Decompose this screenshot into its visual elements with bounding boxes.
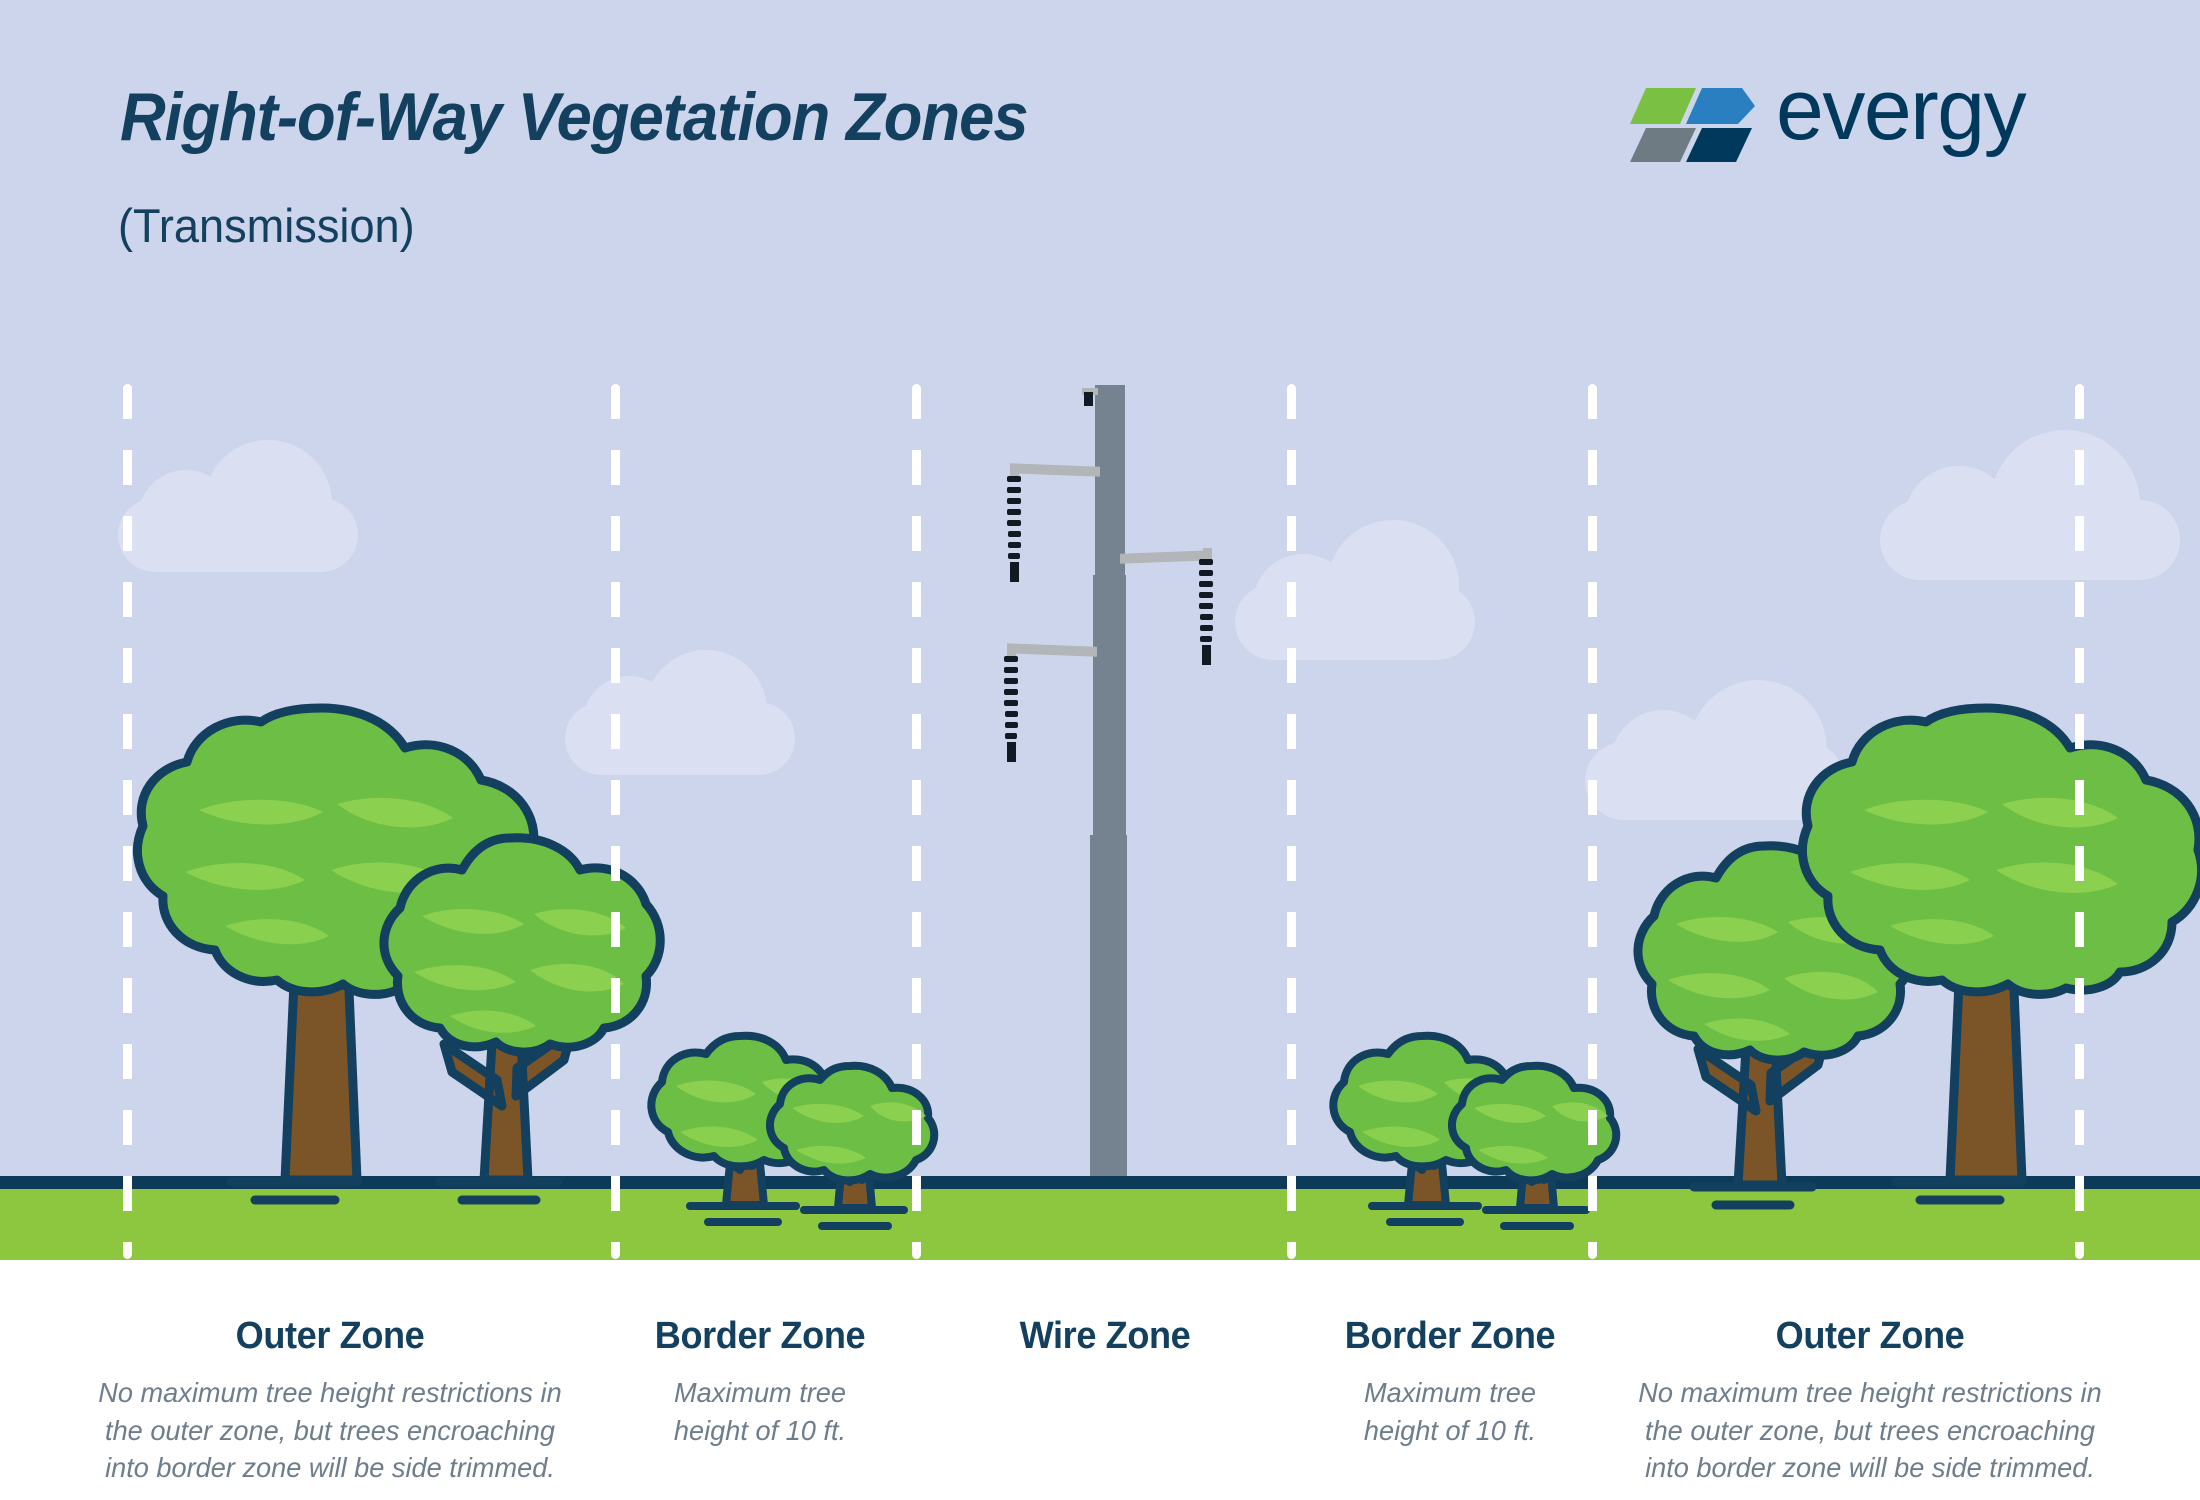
cloud-left [118,440,358,572]
zone-legend-border-left-title: Border Zone [608,1315,912,1358]
zone-legend-outer-left: Outer Zone No maximum tree height restri… [80,1315,580,1487]
zone-divider-1 [123,384,132,1259]
zone-legend-border-right-title: Border Zone [1298,1315,1602,1358]
zone-legend-outer-left-title: Outer Zone [93,1315,568,1358]
crossarm-middle-right-tip [1203,548,1212,559]
evergy-chevron-logo-icon [1630,84,1755,162]
zone-legend-outer-right: Outer Zone No maximum tree height restri… [1620,1315,2120,1487]
zone-divider-3 [912,384,921,1259]
zone-divider-5 [1588,384,1597,1259]
pole-shaft-upper [1095,385,1125,575]
shrub-border-right-2 [1438,1060,1633,1218]
cloud-far-right [1880,430,2180,580]
zone-legend-wire-title: Wire Zone [967,1315,1243,1358]
zone-legend-outer-right-title: Outer Zone [1633,1315,2108,1358]
brand-wordmark: evergy [1776,61,2025,160]
insulator-middle-right [1199,559,1213,665]
pole-shaft-mid [1093,575,1126,835]
shrub-border-left-2 [756,1060,951,1218]
mature-tree-outer-left-2 [358,830,668,1190]
footer-legend: Outer Zone No maximum tree height restri… [0,1260,2200,1500]
zone-divider-4 [1287,384,1296,1259]
zone-legend-outer-left-desc: No maximum tree height restrictions in t… [88,1374,573,1487]
zone-divider-2 [611,384,620,1259]
crossarm-upper-left-tip [1010,465,1019,476]
cloud-center-right [1235,520,1475,660]
zone-legend-border-right-desc: Maximum tree height of 10 ft. [1353,1374,1547,1449]
zone-legend-border-left-desc: Maximum tree height of 10 ft. [663,1374,857,1449]
pole-shaft-lower [1090,835,1127,1190]
zone-legend-wire: Wire Zone [960,1315,1250,1374]
insulator-upper-left [1007,476,1021,582]
crossarm-lower-left-tip [1007,645,1016,656]
header: Right-of-Way Vegetation Zones (Transmiss… [0,0,2200,300]
cloud-left-lower [565,650,795,775]
brand-logo[interactable]: evergy [1630,70,2100,170]
infographic-canvas: Outer Zone No maximum tree height restri… [0,0,2200,1500]
mature-tree-outer-right-2 [1790,700,2200,1190]
page-subtitle: (Transmission) [118,198,415,253]
insulator-lower-left [1004,656,1018,762]
zone-legend-outer-right-desc: No maximum tree height restrictions in t… [1628,1374,2113,1487]
zone-legend-border-left: Border Zone Maximum tree height of 10 ft… [600,1315,920,1449]
page-title: Right-of-Way Vegetation Zones [120,78,1028,156]
zone-divider-6 [2075,384,2084,1259]
pole-tip-icon [1084,392,1093,406]
zone-legend-border-right: Border Zone Maximum tree height of 10 ft… [1290,1315,1610,1449]
